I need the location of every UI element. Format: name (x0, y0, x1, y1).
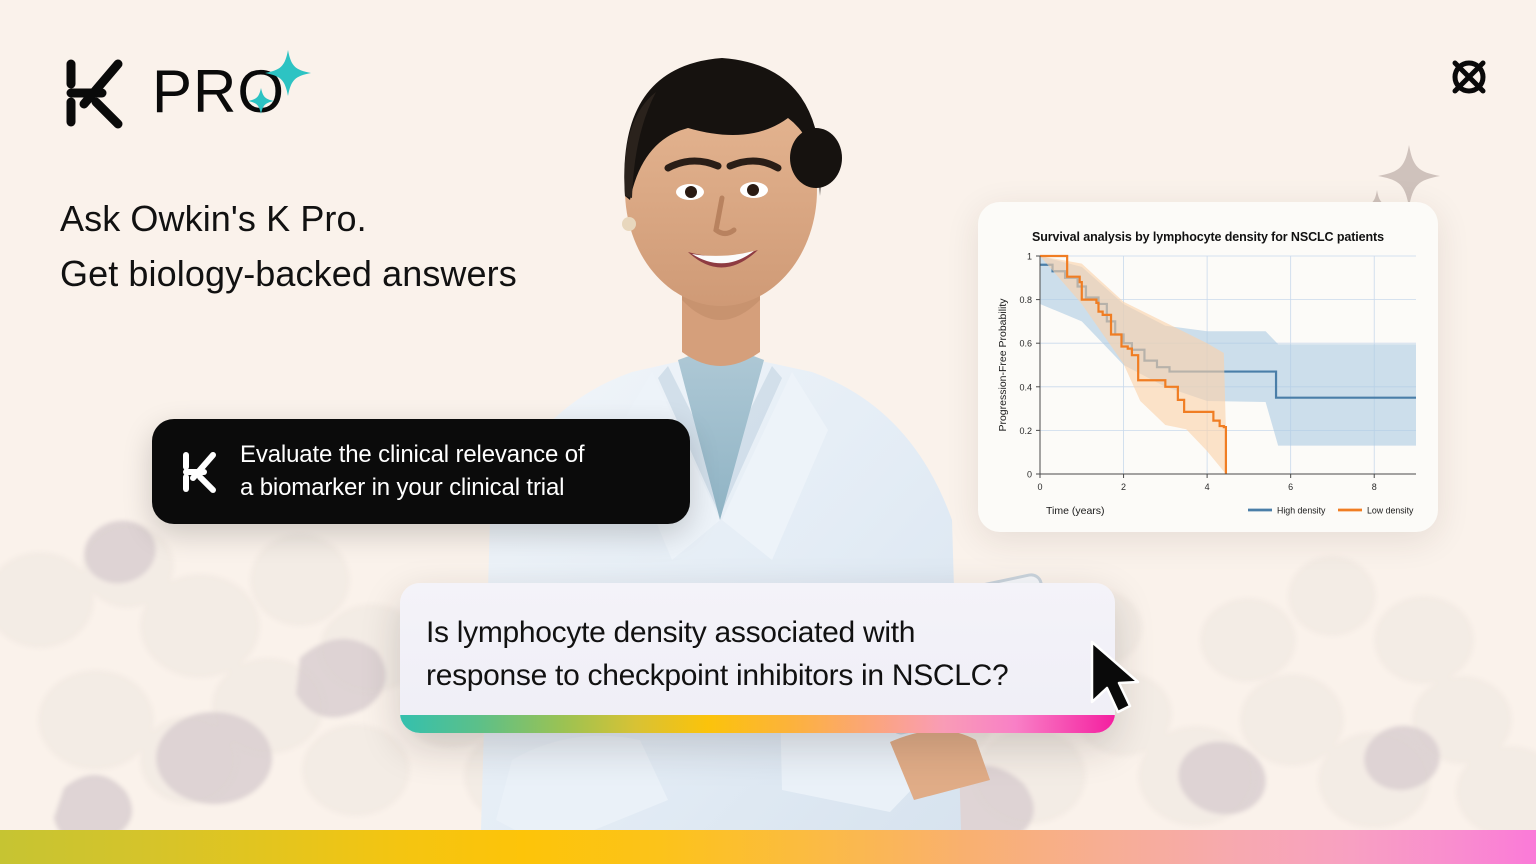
owkin-k-icon (178, 448, 220, 496)
prompt-line-1: Evaluate the clinical relevance of (240, 439, 584, 471)
question-card-accent-bar (400, 715, 1115, 733)
svg-text:2: 2 (1121, 482, 1126, 492)
svg-text:0: 0 (1037, 482, 1042, 492)
suggested-prompt-chip[interactable]: Evaluate the clinical relevance of a bio… (152, 419, 690, 524)
question-text: Is lymphocyte density associated with re… (426, 611, 1075, 697)
question-line-1: Is lymphocyte density associated with (426, 611, 1075, 654)
svg-text:6: 6 (1288, 482, 1293, 492)
headline-line-2: Get biology-backed answers (60, 247, 517, 302)
page-title: Ask Owkin's K Pro. Get biology-backed an… (60, 192, 517, 301)
svg-text:Time (years): Time (years) (1046, 505, 1105, 517)
svg-text:8: 8 (1372, 482, 1377, 492)
svg-text:0.4: 0.4 (1019, 382, 1032, 392)
question-card[interactable]: Is lymphocyte density associated with re… (400, 583, 1115, 733)
owkin-circle-x-icon[interactable] (1446, 54, 1492, 100)
sparkle-icon (248, 88, 274, 114)
bottom-accent-bar (0, 830, 1536, 864)
chart-title: Survival analysis by lymphocyte density … (978, 230, 1438, 244)
svg-text:0.2: 0.2 (1019, 426, 1032, 436)
svg-text:4: 4 (1205, 482, 1210, 492)
prompt-line-2: a biomarker in your clinical trial (240, 472, 584, 504)
banner-stage: PRO Ask Owkin's K Pro. Get biology-backe… (0, 0, 1536, 864)
svg-text:0.8: 0.8 (1019, 295, 1032, 305)
svg-text:Low density: Low density (1367, 505, 1414, 515)
owkin-k-icon (58, 52, 130, 134)
svg-text:High density: High density (1277, 505, 1326, 515)
prompt-chip-text: Evaluate the clinical relevance of a bio… (240, 439, 584, 503)
headline-line-1: Ask Owkin's K Pro. (60, 192, 517, 247)
svg-text:Progression-Free Probability: Progression-Free Probability (997, 298, 1009, 432)
svg-text:0: 0 (1027, 470, 1032, 480)
survival-chart-card[interactable]: Survival analysis by lymphocyte density … (978, 202, 1438, 532)
question-line-2: response to checkpoint inhibitors in NSC… (426, 654, 1075, 697)
kaplan-meier-chart: 00.20.40.60.8102468Time (years)Progressi… (978, 244, 1438, 532)
mouse-pointer-icon (1088, 640, 1144, 716)
svg-text:1: 1 (1027, 252, 1032, 262)
svg-text:0.6: 0.6 (1019, 339, 1032, 349)
